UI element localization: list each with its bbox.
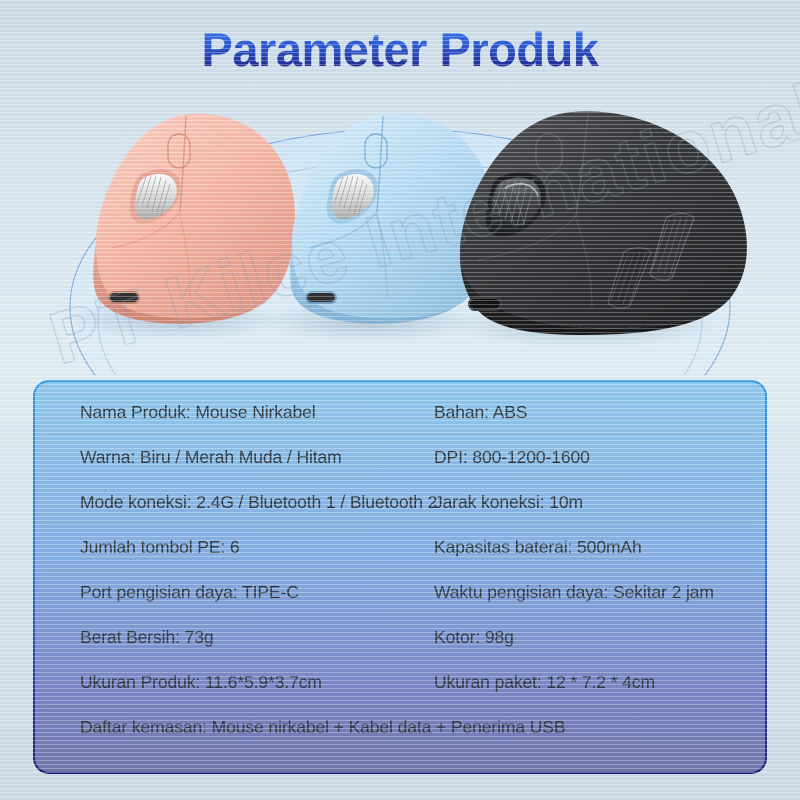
product-spec-poster: Parameter Produk — [0, 0, 800, 800]
table-row: Berat Bersih: 73g Kotor: 98g — [49, 615, 751, 660]
table-row: Nama Produk: Mouse Nirkabel Bahan: ABS — [49, 390, 751, 435]
spec-table: Nama Produk: Mouse Nirkabel Bahan: ABS W… — [35, 382, 765, 772]
spec-cell-left: Nama Produk: Mouse Nirkabel — [49, 402, 424, 423]
table-row: Jumlah tombol PE: 6 Kapasitas baterai: 5… — [49, 525, 751, 570]
blue-mouse — [290, 114, 493, 324]
spec-cell-left: Berat Bersih: 73g — [49, 627, 424, 648]
table-row: Warna: Biru / Merah Muda / Hitam DPI: 80… — [49, 435, 751, 480]
black-usbc-port — [468, 297, 502, 311]
spec-cell-right: Kapasitas baterai: 500mAh — [424, 537, 751, 558]
pink-usbc-port — [108, 291, 140, 304]
spec-cell-right: DPI: 800-1200-1600 — [424, 447, 751, 468]
spec-cell-left: Jumlah tombol PE: 6 — [49, 537, 424, 558]
spec-cell-right: Ukuran paket: 12 * 7.2 * 4cm — [424, 672, 751, 693]
blue-usbc-port — [305, 291, 337, 304]
page-title: Parameter Produk — [0, 22, 800, 77]
spec-cell-left: Warna: Biru / Merah Muda / Hitam — [49, 447, 424, 468]
table-row: Mode koneksi: 2.4G / Bluetooth 1 / Bluet… — [49, 480, 751, 525]
specification-panel: Nama Produk: Mouse Nirkabel Bahan: ABS W… — [33, 380, 767, 774]
pink-mouse — [93, 114, 295, 324]
table-row-full: Daftar kemasan: Mouse nirkabel + Kabel d… — [49, 705, 751, 750]
table-row: Ukuran Produk: 11.6*5.9*3.7cm Ukuran pak… — [49, 660, 751, 705]
spec-cell-left: Port pengisian daya: TIPE-C — [49, 582, 424, 603]
table-row: Port pengisian daya: TIPE-C Waktu pengis… — [49, 570, 751, 615]
spec-cell-right: Waktu pengisian daya: Sekitar 2 jam — [424, 582, 751, 603]
product-hero-image — [0, 92, 800, 352]
spec-cell-packing-list: Daftar kemasan: Mouse nirkabel + Kabel d… — [49, 717, 565, 738]
spec-cell-right: Bahan: ABS — [424, 402, 751, 423]
spec-cell-right: Jarak koneksi: 10m — [424, 492, 751, 513]
spec-cell-left: Mode koneksi: 2.4G / Bluetooth 1 / Bluet… — [49, 492, 424, 513]
spec-cell-left: Ukuran Produk: 11.6*5.9*3.7cm — [49, 672, 424, 693]
mice-illustration — [0, 92, 800, 352]
black-mouse — [460, 111, 747, 335]
spec-cell-right: Kotor: 98g — [424, 627, 751, 648]
